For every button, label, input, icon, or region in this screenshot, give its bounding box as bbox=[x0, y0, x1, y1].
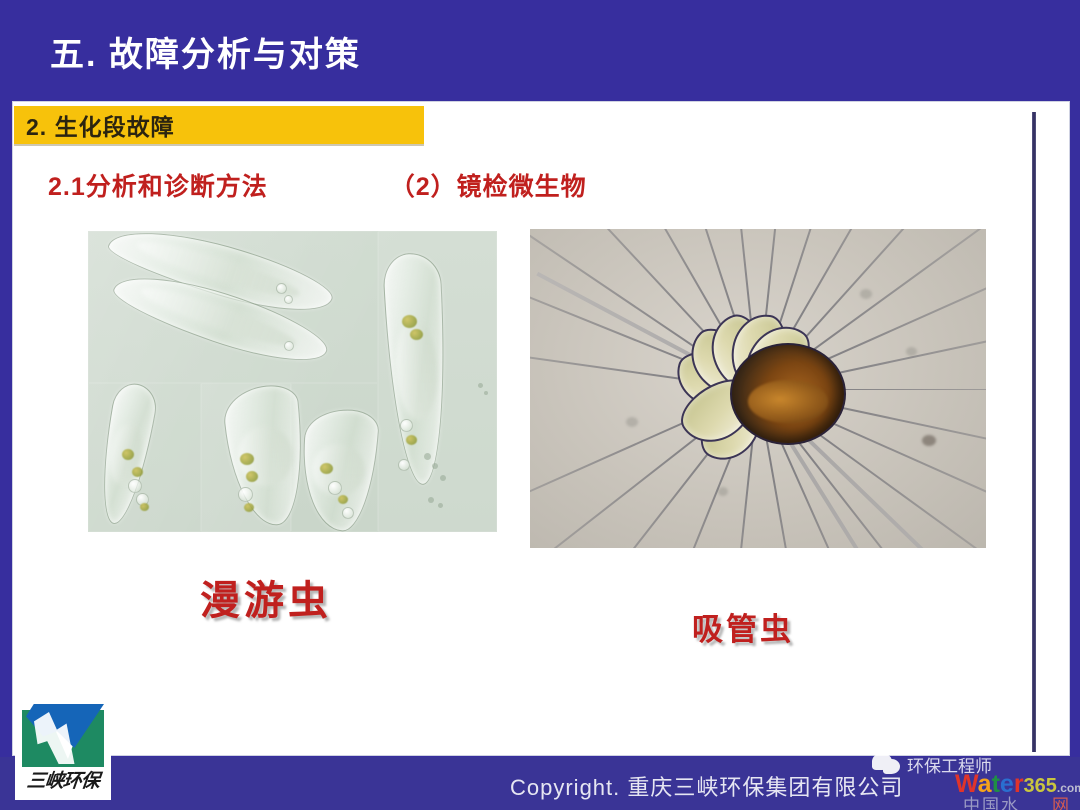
euglena-micrograph-image bbox=[88, 231, 497, 532]
section-bar-label: 2. 生化段故障 bbox=[14, 108, 175, 142]
subheading-microscopy: （2）镜检微生物 bbox=[390, 167, 587, 203]
subheading-analysis-method: 2.1分析和诊断方法 bbox=[48, 167, 268, 203]
logo-text: 三峡环保 bbox=[15, 766, 111, 793]
presentation-slide: 五. 故障分析与对策 2. 生化段故障 2.1分析和诊断方法 （2）镜检微生物 bbox=[0, 0, 1080, 810]
watermark-cn-text-red: 网 bbox=[1052, 791, 1069, 810]
cell-body bbox=[730, 343, 846, 445]
figure-caption-right: 吸管虫 bbox=[692, 604, 794, 649]
logo-mark-icon bbox=[22, 704, 104, 767]
slide-title: 五. 故障分析与对策 bbox=[50, 32, 361, 78]
watermark-cn-text: 中国水 bbox=[963, 791, 1020, 810]
company-logo: 三峡环保 bbox=[15, 700, 111, 800]
suctoria-micrograph-image bbox=[530, 229, 986, 548]
wechat-icon bbox=[872, 753, 902, 777]
figure-caption-left: 漫游虫 bbox=[200, 568, 332, 626]
copyright-text: Copyright. 重庆三峡环保集团有限公司 bbox=[510, 770, 903, 802]
section-bar: 2. 生化段故障 bbox=[14, 106, 424, 144]
subheading-row: 2.1分析和诊断方法 （2）镜检微生物 bbox=[48, 167, 988, 203]
vertical-divider-rule bbox=[1032, 112, 1036, 752]
